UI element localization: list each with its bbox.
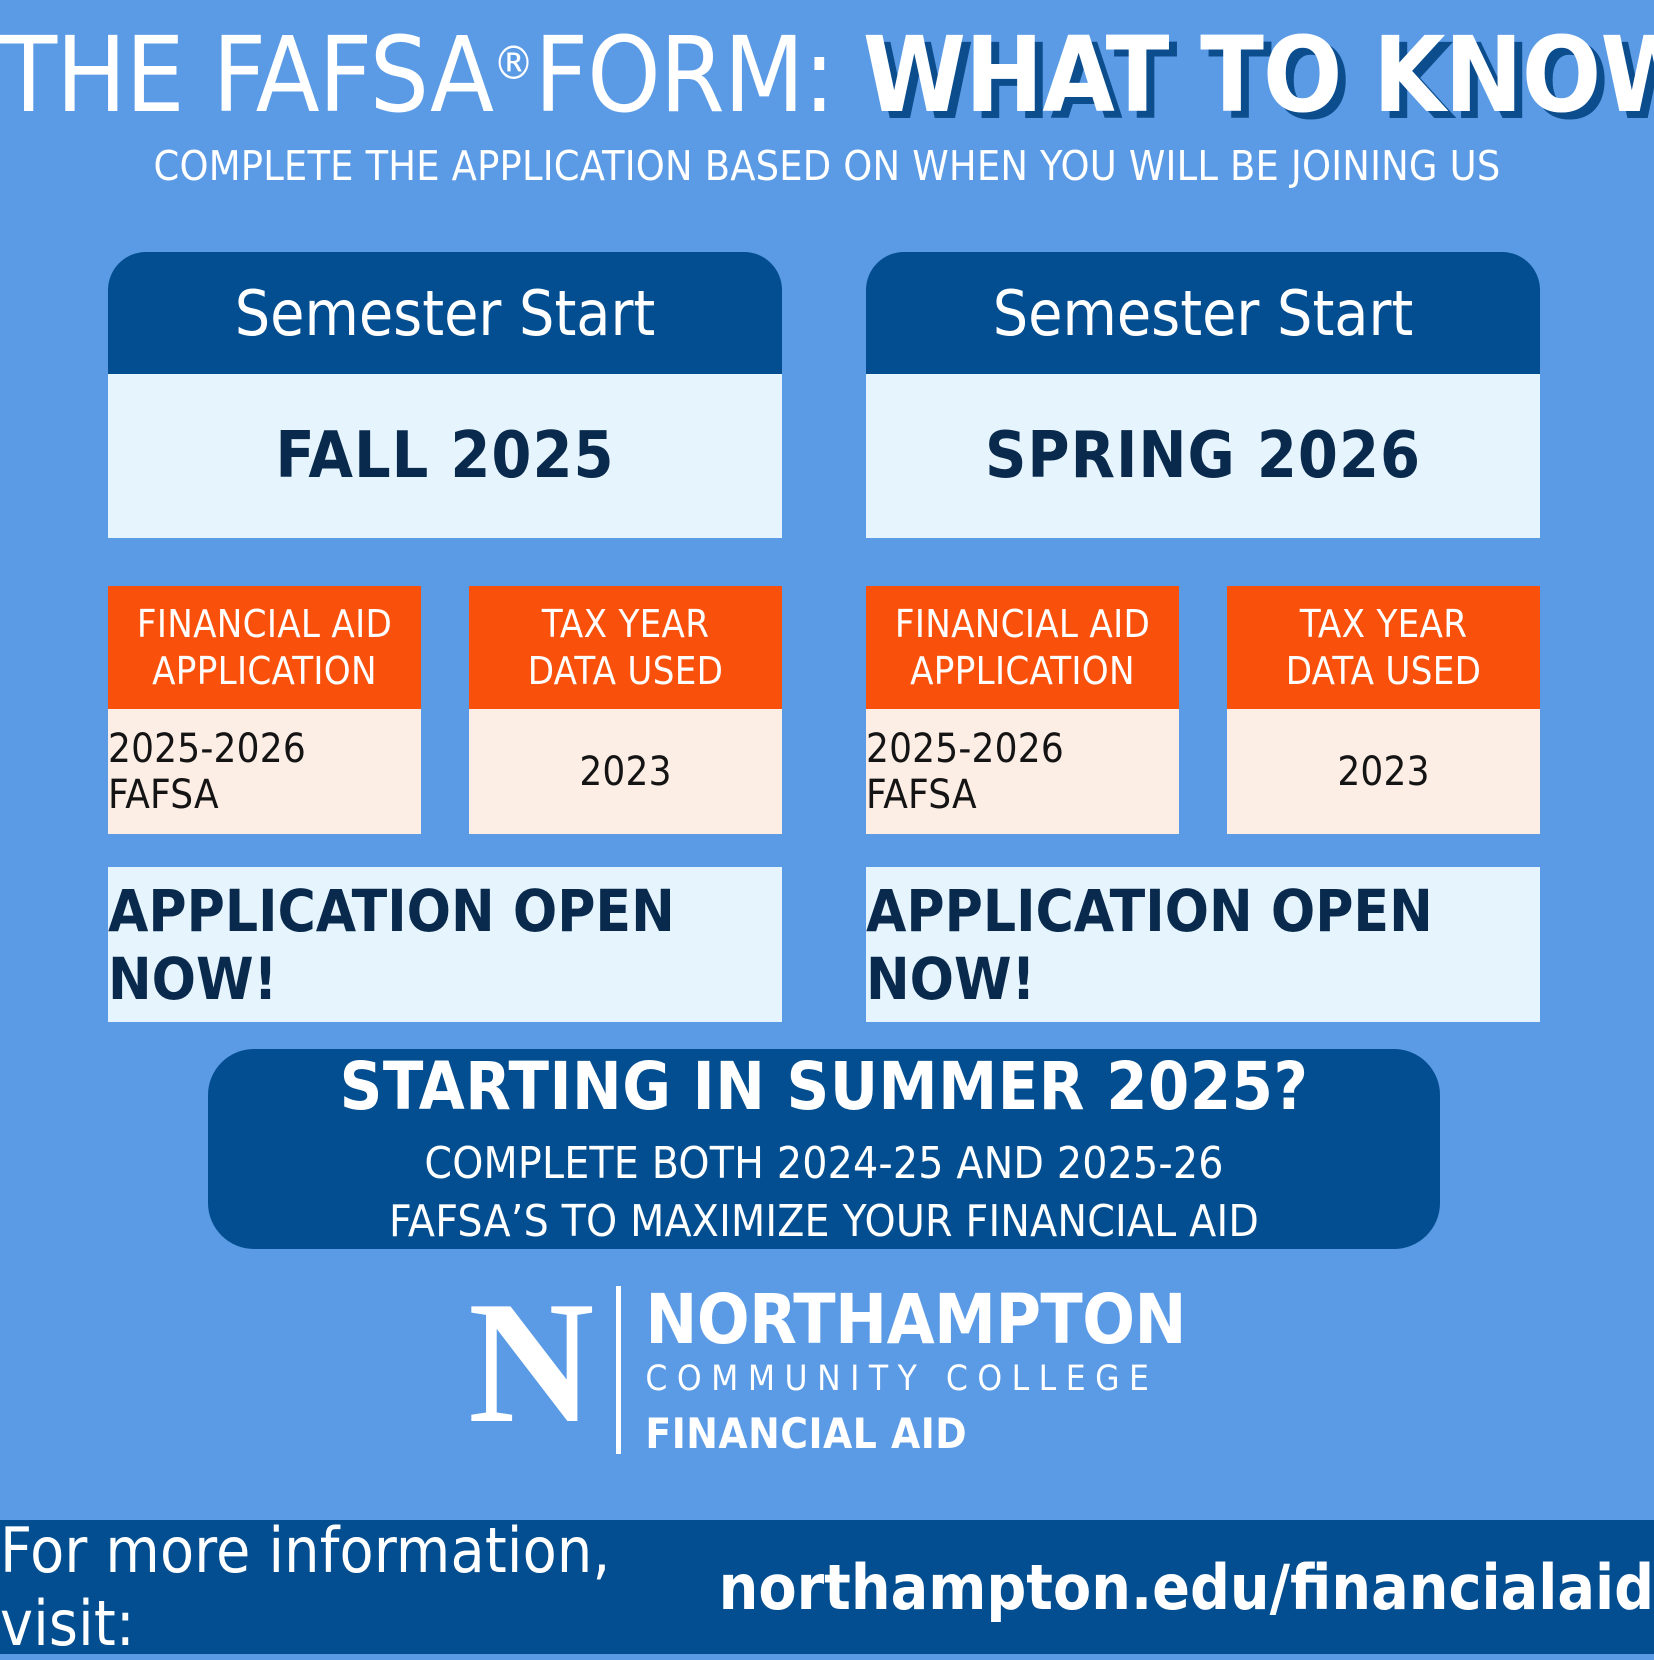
info-head-line2: APPLICATION: [910, 648, 1135, 694]
status-panel-fall: APPLICATION OPEN NOW!: [108, 867, 782, 1022]
info-box-value: 2023: [1227, 709, 1540, 834]
summer-callout-line-1: COMPLETE BOTH 2024-25 AND 2025-26: [424, 1135, 1223, 1192]
summer-callout-line-2: FAFSA’S TO MAXIMIZE YOUR FINANCIAL AID: [389, 1193, 1259, 1250]
summer-callout: STARTING IN SUMMER 2025? COMPLETE BOTH 2…: [208, 1049, 1440, 1249]
page-title: THE FAFSA®FORM: WHAT TO KNOW: [0, 22, 1654, 128]
card-header-spring: Semester Start: [866, 252, 1540, 374]
info-box-value: 2023: [469, 709, 782, 834]
info-head-line1: FINANCIAL AID: [137, 601, 392, 647]
northampton-logo: N NORTHAMPTON COMMUNITY COLLEGE FINANCIA…: [0, 1280, 1654, 1458]
info-box-tax-year-data-used-fall: TAX YEAR DATA USED 2023: [469, 586, 782, 834]
info-box-financial-aid-application-fall: FINANCIAL AID APPLICATION 2025-2026 FAFS…: [108, 586, 421, 834]
footer-url[interactable]: northampton.edu/financialaid: [719, 1551, 1654, 1624]
logo-monogram-n: N: [468, 1280, 594, 1458]
card-header-label: Semester Start: [235, 277, 656, 350]
info-head-line2: DATA USED: [528, 648, 724, 694]
footer-prompt: For more information, visit:: [0, 1514, 685, 1660]
registered-trademark-icon: ®: [493, 36, 534, 90]
semester-card-spring: Semester Start SPRING 2026: [866, 252, 1540, 538]
info-box-head: FINANCIAL AID APPLICATION: [108, 586, 421, 709]
title-light-part: THE FAFSA: [0, 14, 493, 136]
card-term-spring: SPRING 2026: [866, 374, 1540, 538]
logo-divider: [616, 1286, 621, 1454]
info-box-tax-year-data-used-spring: TAX YEAR DATA USED 2023: [1227, 586, 1540, 834]
title-bold-part: WHAT TO KNOW: [863, 14, 1654, 136]
info-box-head: TAX YEAR DATA USED: [469, 586, 782, 709]
status-badge: APPLICATION OPEN NOW!: [108, 877, 782, 1013]
info-row-fall: FINANCIAL AID APPLICATION 2025-2026 FAFS…: [108, 586, 782, 834]
info-head-line2: DATA USED: [1286, 648, 1482, 694]
summer-callout-heading: STARTING IN SUMMER 2025?: [340, 1048, 1309, 1125]
term-label: FALL 2025: [275, 419, 614, 493]
logo-institution-name: NORTHAMPTON: [645, 1286, 1186, 1355]
card-header-label: Semester Start: [993, 277, 1414, 350]
info-head-line1: TAX YEAR: [542, 601, 710, 647]
info-head-line1: TAX YEAR: [1300, 601, 1468, 647]
status-panel-spring: APPLICATION OPEN NOW!: [866, 867, 1540, 1022]
card-header-fall: Semester Start: [108, 252, 782, 374]
semester-card-fall: Semester Start FALL 2025: [108, 252, 782, 538]
logo-department: FINANCIAL AID: [645, 1409, 1186, 1459]
logo-institution-subtitle: COMMUNITY COLLEGE: [645, 1355, 1186, 1405]
info-box-financial-aid-application-spring: FINANCIAL AID APPLICATION 2025-2026 FAFS…: [866, 586, 1179, 834]
title-block: THE FAFSA®FORM: WHAT TO KNOW COMPLETE TH…: [0, 22, 1654, 190]
info-box-head: FINANCIAL AID APPLICATION: [866, 586, 1179, 709]
info-head-line2: APPLICATION: [152, 648, 377, 694]
title-light-tail: FORM:: [534, 14, 834, 136]
info-box-value: 2025-2026 FAFSA: [866, 709, 1179, 834]
page-subtitle: COMPLETE THE APPLICATION BASED ON WHEN Y…: [0, 142, 1654, 190]
info-box-head: TAX YEAR DATA USED: [1227, 586, 1540, 709]
card-term-fall: FALL 2025: [108, 374, 782, 538]
status-badge: APPLICATION OPEN NOW!: [866, 877, 1540, 1013]
info-row-spring: FINANCIAL AID APPLICATION 2025-2026 FAFS…: [866, 586, 1540, 834]
footer-bar: For more information, visit: northampton…: [0, 1520, 1654, 1654]
info-box-value: 2025-2026 FAFSA: [108, 709, 421, 834]
term-label: SPRING 2026: [985, 419, 1421, 493]
info-head-line1: FINANCIAL AID: [895, 601, 1150, 647]
